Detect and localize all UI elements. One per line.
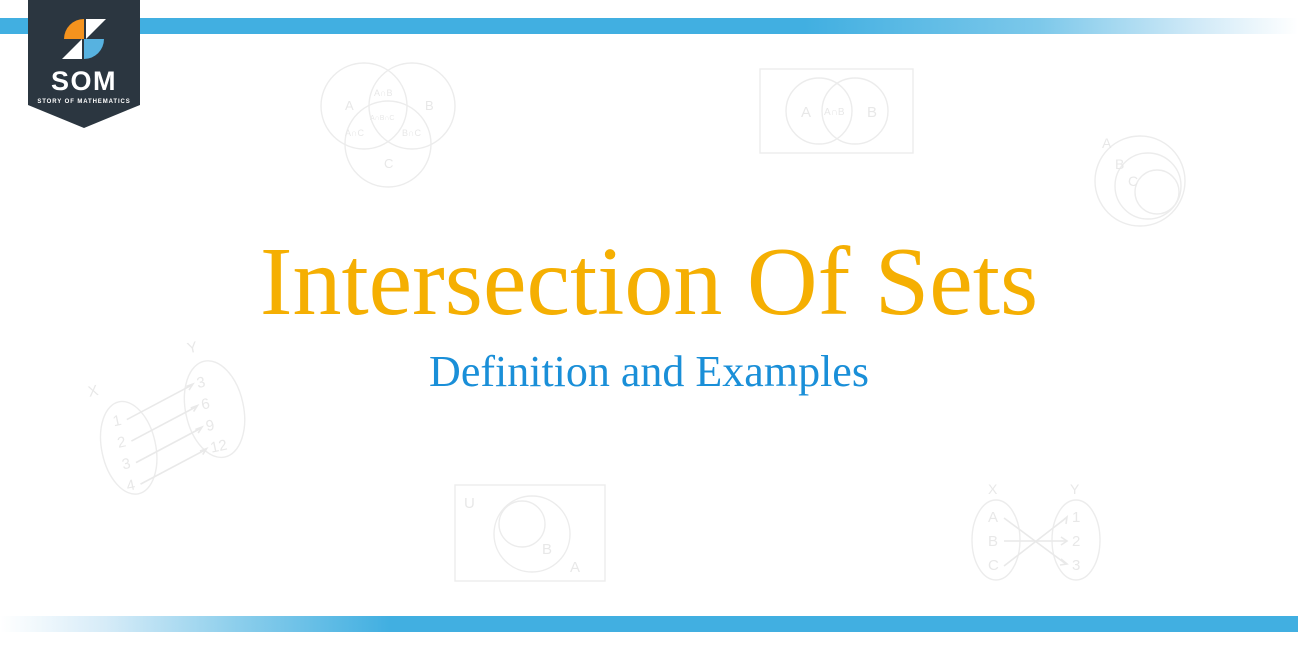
- mapB-range-item-2: 2: [1072, 533, 1080, 550]
- page-subtitle: Definition and Examples: [0, 346, 1298, 399]
- som-logo-banner[interactable]: SOM STORY OF MATHEMATICS: [28, 0, 140, 128]
- mapB-domain-item-a: A: [988, 509, 998, 526]
- venn2-label-b: B: [867, 104, 877, 121]
- universe-label-u: U: [464, 495, 475, 512]
- mapB-range-item-1: 1: [1072, 509, 1080, 526]
- watermark-two-set-venn: A B A∩B: [757, 66, 922, 161]
- mapA-domain-item-1: 1: [111, 412, 123, 430]
- venn3-label-b: B: [425, 98, 434, 113]
- title-block: Intersection Of Sets Definition and Exam…: [0, 232, 1298, 399]
- universe-label-a: A: [570, 559, 580, 576]
- slide-canvas: A B C A∩B A∩C B∩C A∩B∩C A B A∩B A B C: [0, 0, 1298, 649]
- som-logo-tagline: STORY OF MATHEMATICS: [37, 99, 130, 105]
- mapB-range-item-3: 3: [1072, 557, 1080, 574]
- venn3-label-bc: B∩C: [402, 128, 421, 138]
- nested-label-c: C: [1128, 173, 1138, 189]
- som-logo-mark-icon: [61, 16, 107, 62]
- watermark-nested-subsets: A B C: [1082, 126, 1202, 231]
- som-logo-wordmark: SOM: [51, 68, 117, 95]
- mapA-domain-item-4: 4: [125, 477, 137, 495]
- universe-label-b: B: [542, 541, 552, 558]
- mapA-domain-item-2: 2: [116, 433, 128, 451]
- venn3-label-c: C: [384, 156, 393, 171]
- mapB-range-label: Y: [1070, 481, 1080, 497]
- watermark-letter-mapping: X Y A B C 1 2 3: [962, 478, 1112, 593]
- mapA-range-item-9: 9: [204, 417, 216, 435]
- mapB-domain-item-b: B: [988, 533, 998, 550]
- bottom-accent-bar: [0, 616, 1298, 632]
- venn2-label-ab: A∩B: [824, 107, 845, 118]
- mapB-domain-label: X: [988, 481, 998, 497]
- watermark-universal-set: U B A: [452, 482, 612, 587]
- venn3-label-abc: A∩B∩C: [370, 115, 394, 122]
- mapA-domain-item-3: 3: [120, 455, 132, 473]
- watermark-three-set-venn: A B C A∩B A∩C B∩C A∩B∩C: [312, 58, 462, 183]
- mapB-domain-item-c: C: [988, 557, 999, 574]
- venn3-label-ac: A∩C: [345, 128, 364, 138]
- top-accent-bar: [0, 18, 1298, 34]
- venn2-label-a: A: [801, 104, 811, 121]
- mapA-range-item-12: 12: [209, 437, 229, 457]
- nested-label-a: A: [1102, 135, 1112, 151]
- nested-label-b: B: [1115, 156, 1124, 172]
- venn3-label-ab: A∩B: [374, 88, 392, 98]
- page-title: Intersection Of Sets: [0, 232, 1298, 334]
- venn3-label-a: A: [345, 98, 354, 113]
